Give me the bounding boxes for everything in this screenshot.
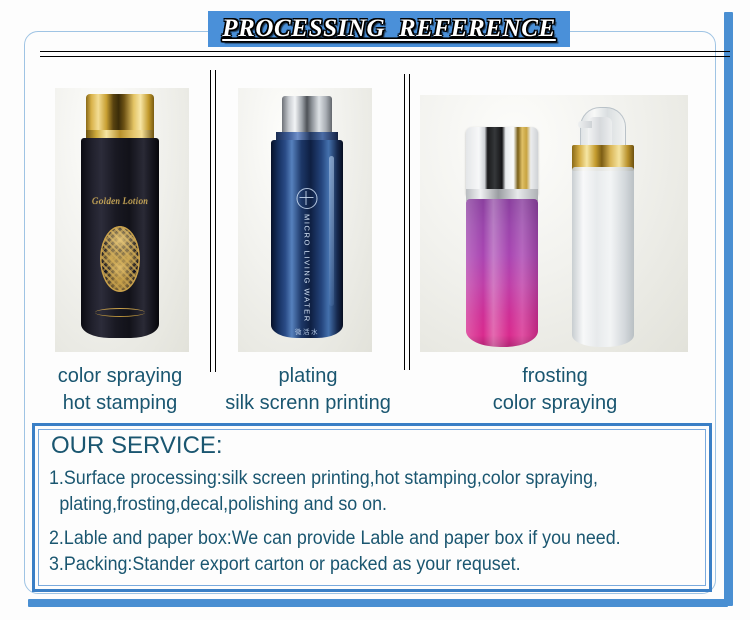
page-root: PROCESSING REFERENCE Golden Lotion MICRO…: [0, 0, 750, 620]
caption-1-line-1: color spraying: [30, 363, 210, 390]
bottle-label-text-2-cn: 微活水: [295, 326, 319, 336]
bottle-gold-stripe: [95, 308, 145, 317]
bottom-accent-bar: [28, 599, 728, 607]
service-line-1-cont: plating,frosting,decal,polishing and so …: [49, 492, 660, 518]
product-photo-2: MICRO LIVING WATER 微活水: [238, 88, 372, 352]
our-service-panel: OUR SERVICE: 1.Surface processing:silk s…: [32, 423, 712, 592]
service-line-1: 1.Surface processing:silk screen printin…: [49, 466, 660, 492]
bottle-label-text-2: MICRO LIVING WATER: [303, 214, 312, 323]
our-service-title: OUR SERVICE:: [51, 432, 223, 460]
column-divider-1: [210, 70, 216, 372]
column-divider-2: [404, 74, 410, 370]
photo-background-3: [420, 95, 688, 352]
our-service-list: 1.Surface processing:silk screen printin…: [49, 466, 699, 578]
page-title: PROCESSING REFERENCE: [222, 15, 556, 43]
bottle-cap-gold: [86, 94, 154, 134]
header-banner: PROCESSING REFERENCE: [208, 11, 570, 47]
caption-product-2: plating silk screnn printing: [214, 363, 402, 417]
right-accent-bar: [724, 12, 733, 606]
bottle-circle-logo-icon: [297, 188, 318, 209]
bottle-label-text-1: Golden Lotion: [81, 196, 159, 206]
service-line-3: 3.Packing:Stander export carton or packe…: [49, 552, 660, 578]
header-double-rule: [40, 51, 730, 57]
bottle-cap-ring-gold: [86, 130, 154, 138]
caption-3-line-1: frosting: [430, 363, 680, 390]
bottle-body-purple: [466, 199, 538, 347]
caption-product-3: frosting color spraying: [430, 363, 680, 417]
bottle-body-black: Golden Lotion: [81, 138, 159, 338]
gold-ornament-icon: [100, 226, 140, 292]
bottle-body-frosted: [572, 167, 634, 347]
product-photo-3: [420, 95, 688, 352]
caption-1-line-2: hot stamping: [30, 390, 210, 417]
caption-2-line-2: silk screnn printing: [214, 390, 402, 417]
service-line-2: 2.Lable and paper box:We can provide Lab…: [49, 526, 660, 552]
bottle-body-blue: MICRO LIVING WATER 微活水: [271, 140, 343, 338]
bottle-cap-silver: [282, 96, 332, 136]
bottle-pump-head-icon: [588, 117, 612, 147]
caption-2-line-1: plating: [214, 363, 402, 390]
product-photo-1: Golden Lotion: [55, 88, 189, 352]
caption-3-line-2: color spraying: [430, 390, 680, 417]
caption-product-1: color spraying hot stamping: [30, 363, 210, 417]
bottle-cap-silver-square: [466, 127, 538, 195]
